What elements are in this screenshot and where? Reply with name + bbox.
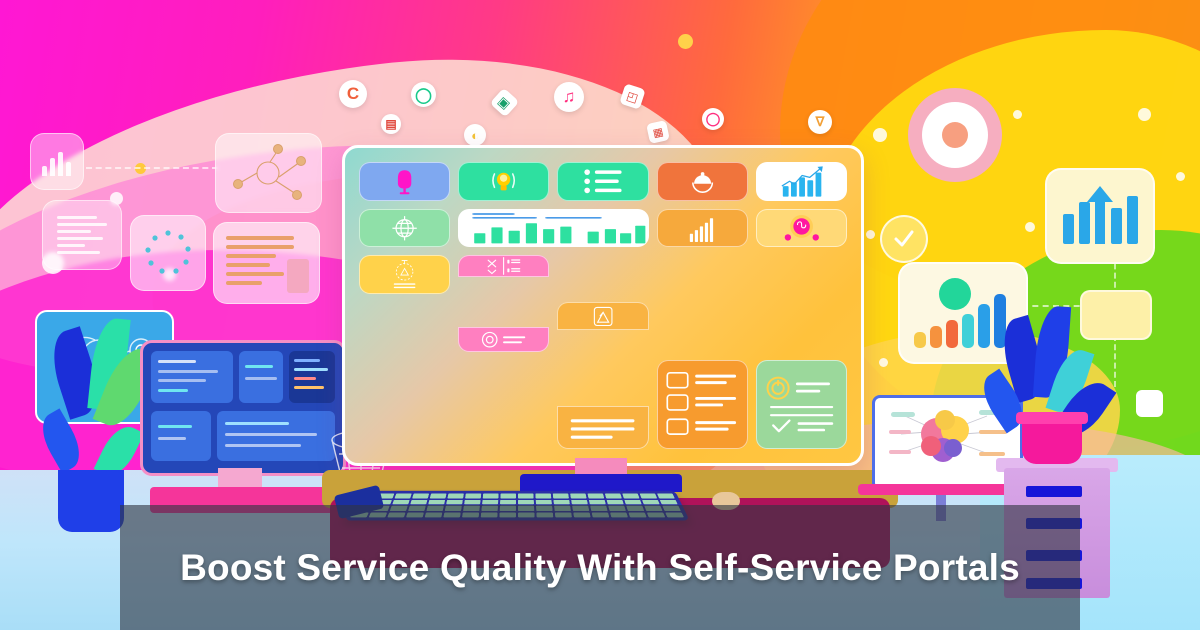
page-title: Boost Service Quality With Self-Service … bbox=[180, 545, 1020, 590]
caption-overlay: Boost Service Quality With Self-Service … bbox=[120, 505, 1080, 630]
plant-pot bbox=[1022, 418, 1082, 464]
plant-pot-rim bbox=[1016, 412, 1088, 424]
banner-image: C ◯ ▤ ◐ ▣ ♫ ◰ ▦ ◯ ∇ bbox=[0, 0, 1200, 630]
